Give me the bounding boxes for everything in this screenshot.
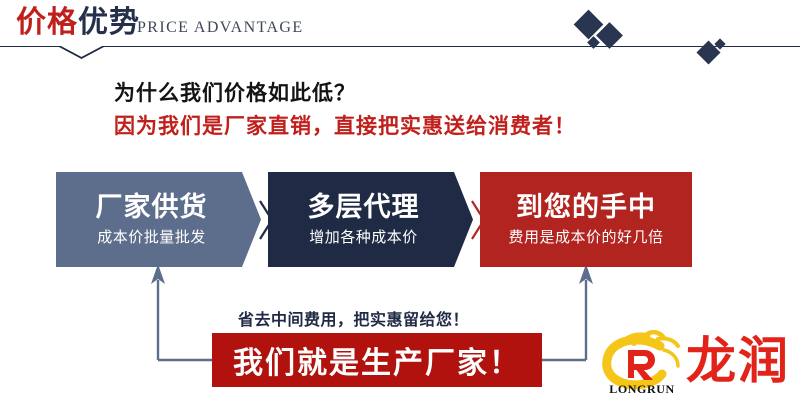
flow-step-1-title: 厂家供货 [96, 192, 222, 224]
flow-arrow-1-icon [258, 199, 274, 241]
flow-arrow-2-icon [470, 199, 486, 241]
flow-step-3-title: 到您的手中 [516, 192, 656, 224]
flow-step-customer[interactable]: 到您的手中 费用是成本价的好几倍 [480, 172, 692, 267]
logo-chinese-text: 龙润 [686, 328, 790, 394]
flow-step-agents[interactable]: 多层代理 增加各种成本价 [268, 172, 473, 267]
factory-banner[interactable]: 我们就是生产厂家！ [212, 333, 542, 387]
flow-step-3-subtitle: 费用是成本价的好几倍 [508, 226, 663, 248]
flow-step-1-subtitle: 成本价批量批发 [97, 226, 220, 248]
factory-banner-text: 我们就是生产厂家！ [233, 338, 521, 382]
company-logo[interactable]: LONGRUN 龙润 [598, 330, 798, 408]
flow-step-manufacturer[interactable]: 厂家供货 成本价批量批发 [56, 172, 261, 267]
savings-tagline: 省去中间费用，把实惠留给您！ [238, 306, 469, 330]
flow-step-2-subtitle: 增加各种成本价 [309, 226, 432, 248]
flow-step-2-title: 多层代理 [308, 192, 434, 224]
logo-latin-text: LONGRUN [600, 382, 684, 397]
